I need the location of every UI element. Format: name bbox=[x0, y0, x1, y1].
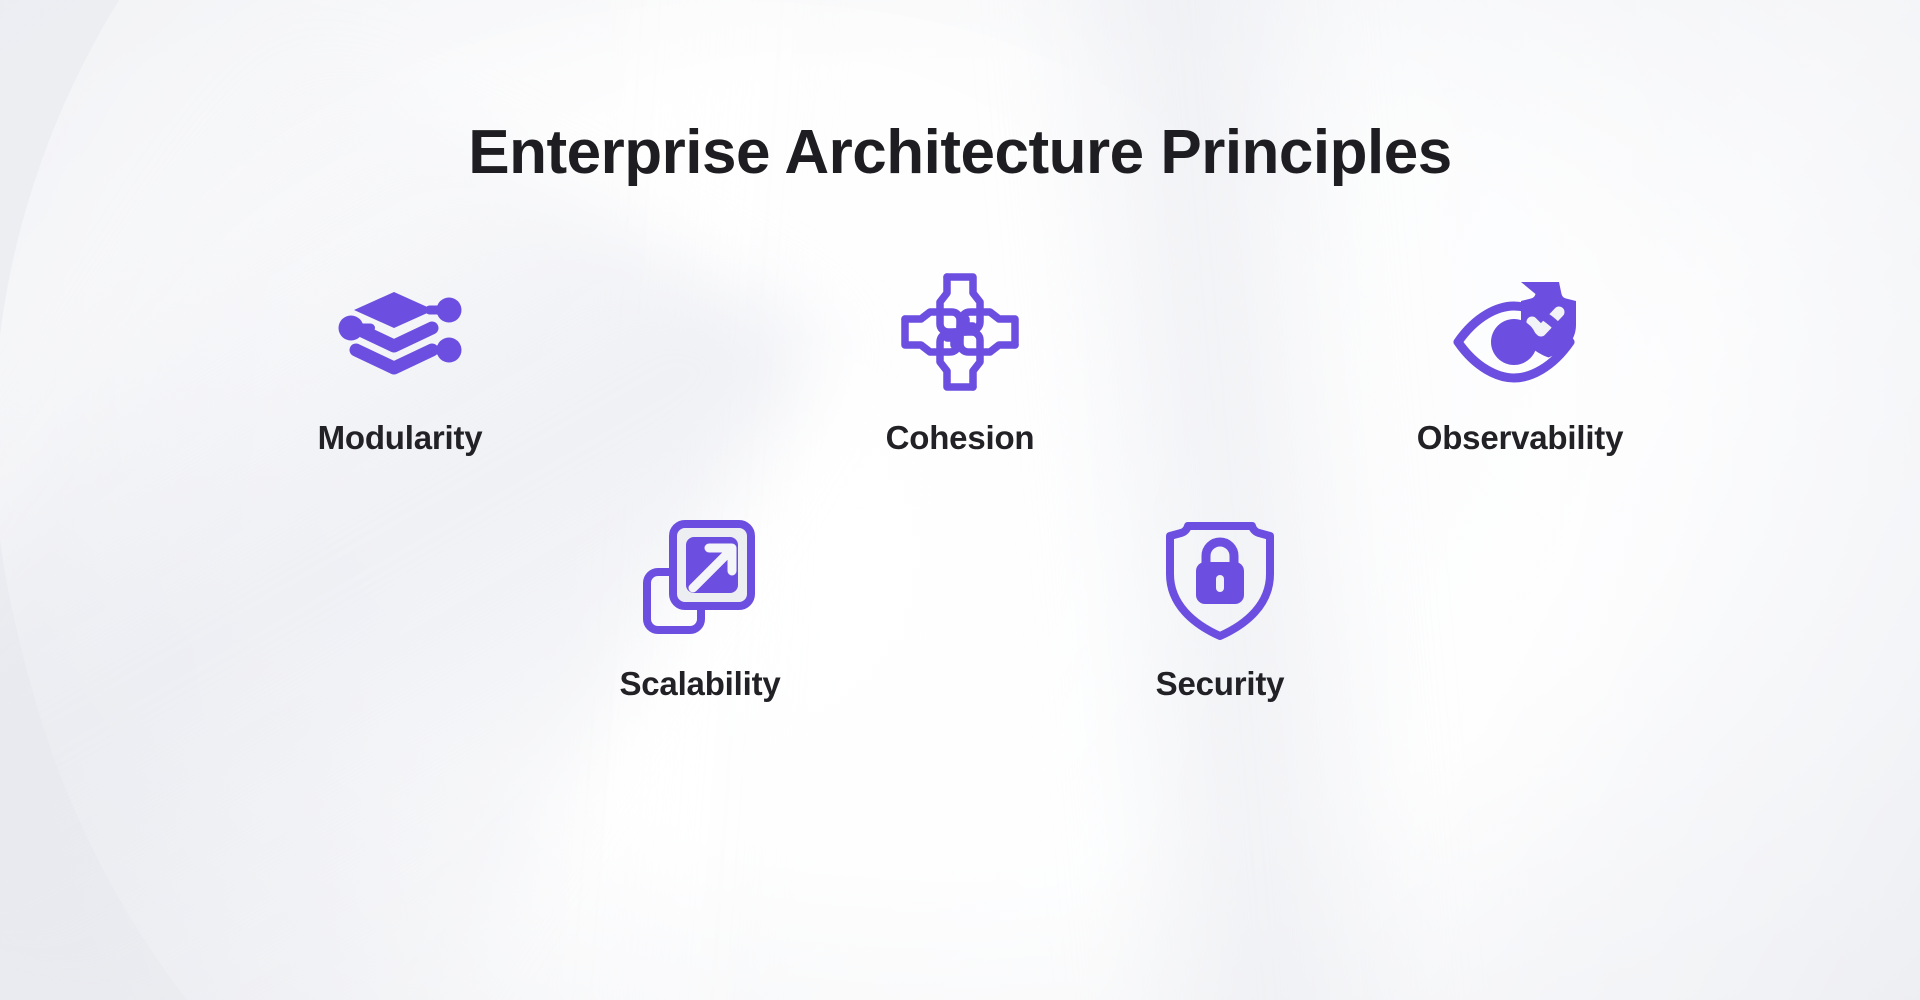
principle-label: Security bbox=[1156, 665, 1285, 703]
page-title: Enterprise Architecture Principles bbox=[468, 120, 1451, 185]
principle-label: Cohesion bbox=[886, 419, 1035, 457]
principles-row-top: Modularity bbox=[285, 273, 1635, 457]
principle-item-modularity[interactable]: Modularity bbox=[285, 273, 515, 457]
principles-grid: Modularity bbox=[310, 273, 1610, 703]
shield-padlock-icon bbox=[1166, 519, 1274, 637]
principle-label: Scalability bbox=[619, 665, 780, 703]
four-hands-unity-icon bbox=[901, 273, 1019, 391]
principle-label: Observability bbox=[1417, 419, 1624, 457]
principle-label: Modularity bbox=[318, 419, 483, 457]
principle-item-cohesion[interactable]: Cohesion bbox=[845, 273, 1075, 457]
principles-row-bottom: Scalability bbox=[585, 519, 1335, 703]
principle-item-observability[interactable]: Observability bbox=[1405, 273, 1635, 457]
principle-item-scalability[interactable]: Scalability bbox=[585, 519, 815, 703]
expand-squares-arrow-icon bbox=[641, 519, 759, 637]
eye-shield-check-icon bbox=[1454, 273, 1586, 391]
slide-canvas: Enterprise Architecture Principles bbox=[0, 0, 1920, 1000]
slide-content: Enterprise Architecture Principles bbox=[0, 0, 1920, 1000]
stacked-layers-nodes-icon bbox=[337, 273, 463, 391]
principle-item-security[interactable]: Security bbox=[1105, 519, 1335, 703]
